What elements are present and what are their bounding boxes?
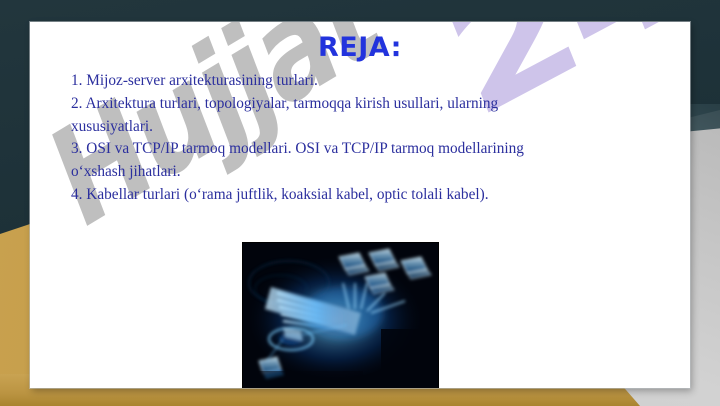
slide-canvas: 24 Hujjat REJA: 1. Mijoz-server arxitekt… (30, 22, 690, 388)
body-line: 4. Kabellar turlari (o‘rama juftlik, koa… (71, 184, 651, 207)
body-line: 1. Mijoz-server arxitekturasining turlar… (71, 70, 651, 93)
body-line: 3. OSI va TCP/IP tarmoq modellari. OSI v… (71, 138, 651, 161)
network-topology-glow-image (243, 243, 438, 388)
slide-body-list: 1. Mijoz-server arxitekturasining turlar… (71, 70, 651, 207)
slide-title: REJA: (30, 32, 690, 63)
slide-backdrop: 24 Hujjat REJA: 1. Mijoz-server arxitekt… (0, 0, 720, 406)
body-line: 2. Arxitektura turlari, topologiyalar, t… (71, 93, 651, 116)
body-line: xususiyatlari. (71, 116, 651, 139)
body-line: o‘xshash jihatlari. (71, 161, 651, 184)
